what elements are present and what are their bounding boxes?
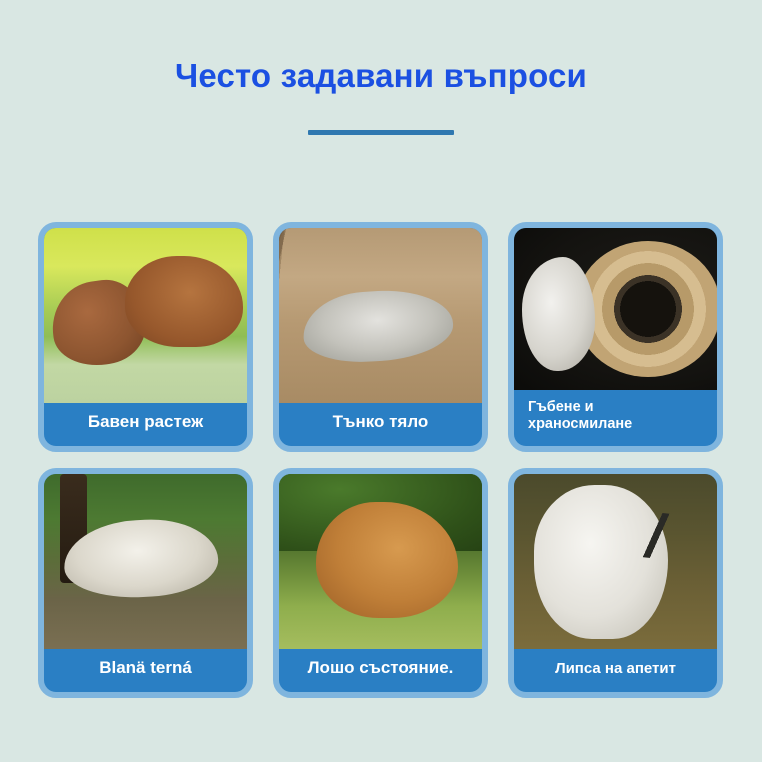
faq-card-thin-body[interactable]: Тънко тяло — [273, 222, 488, 452]
card-caption: Гъбене и храносмилане — [514, 390, 717, 446]
card-photo — [514, 474, 717, 649]
faq-card-slow-growth[interactable]: Бавен растеж — [38, 222, 253, 452]
photo-two-brown-calves-grazing-in-yellow-field-icon — [44, 228, 247, 403]
photo-hoof-and-horn-closeup-dark-background-icon — [514, 228, 717, 390]
card-caption: Тънко тяло — [279, 403, 482, 446]
card-caption: Бавен растеж — [44, 403, 247, 446]
photo-white-goat-with-rope-harness-icon — [514, 474, 717, 649]
faq-card-grid: Бавен растеж Тънко тяло Гъбене и храносм… — [38, 222, 724, 698]
card-photo — [279, 474, 482, 649]
faq-card-poor-condition[interactable]: Лошо състояние. — [273, 468, 488, 698]
card-photo — [514, 228, 717, 390]
card-caption: Лошо състояние. — [279, 649, 482, 692]
photo-emaciated-animal-lying-on-sandy-ground-icon — [279, 228, 482, 403]
photo-thin-white-goat-in-green-brush-icon — [44, 474, 247, 649]
photo-brown-cow-standing-in-pasture-icon — [279, 474, 482, 649]
card-caption: Blanä terná — [44, 649, 247, 692]
faq-card-fungus-digestion[interactable]: Гъбене и храносмилане — [508, 222, 723, 452]
page-title: Често задавани въпроси — [0, 58, 762, 94]
faq-page: Често задавани въпроси Бавен растеж Тънк… — [0, 0, 762, 762]
title-divider — [308, 130, 454, 135]
faq-card-loss-of-appetite[interactable]: Липса на апетит — [508, 468, 723, 698]
card-photo — [44, 228, 247, 403]
card-photo — [279, 228, 482, 403]
page-header: Често задавани въпроси — [0, 0, 762, 135]
faq-card-blana-terna[interactable]: Blanä terná — [38, 468, 253, 698]
card-caption: Липса на апетит — [514, 649, 717, 692]
card-photo — [44, 474, 247, 649]
